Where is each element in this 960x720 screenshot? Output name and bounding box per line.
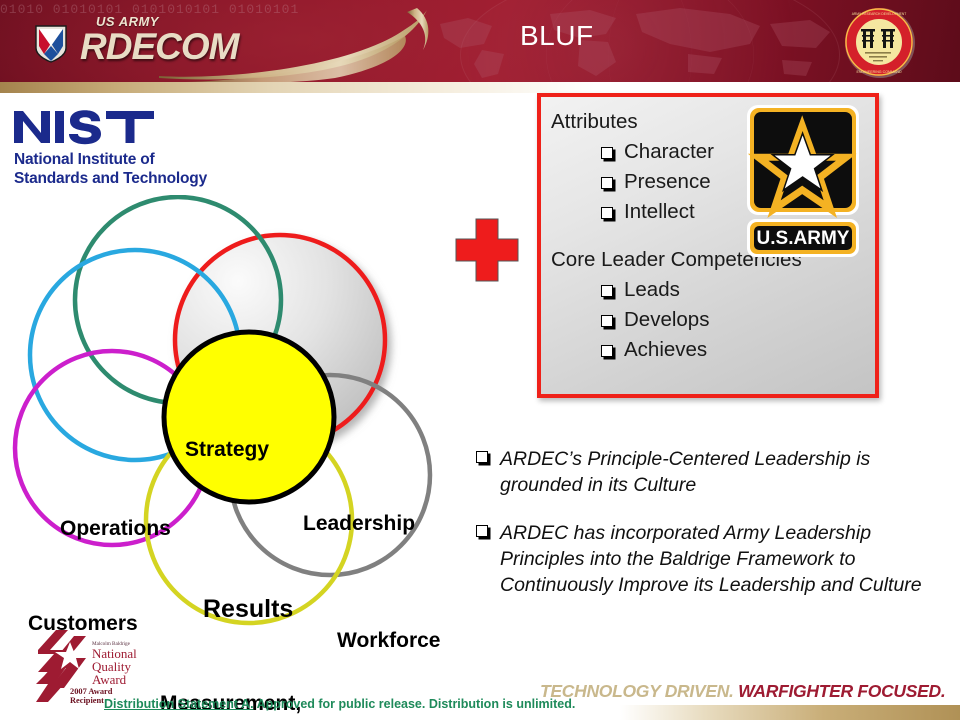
checkbox-icon [601, 177, 613, 189]
venn-label-operations: Operations [60, 517, 171, 541]
venn-label-workforce: Workforce [337, 629, 440, 653]
competency-label: Leads [624, 275, 680, 305]
tagline-part-2: WARFIGHTER FOCUSED. [738, 681, 945, 701]
venn-label-results: Results [203, 595, 293, 624]
venn-circles [0, 195, 480, 635]
page-title: BLUF [520, 20, 594, 52]
attribute-label: Presence [624, 167, 711, 197]
baldrige-recipient-line-1: 2007 Award [70, 687, 113, 696]
footer-gold-bar [620, 705, 960, 720]
competency-label: Develops [624, 305, 709, 335]
bullet-text: ARDEC has incorporated Army Leadership P… [500, 520, 952, 598]
bullet-item: ARDEC’s Principle-Centered Leadership is… [476, 446, 952, 498]
rdecom-shield-icon [34, 24, 68, 64]
attribute-label: Character [624, 137, 714, 167]
header-gold-divider [0, 82, 960, 93]
attribute-label: Intellect [624, 197, 695, 227]
rdecom-wordmark: US ARMY RDECOM [80, 14, 290, 70]
checkbox-icon [476, 451, 488, 463]
army-logo-caption: U.S.ARMY [757, 228, 850, 249]
red-plus-icon [452, 215, 522, 285]
distribution-statement-text: Approved for public release. Distributio… [257, 697, 576, 711]
competency-item-develops: Develops [601, 305, 875, 335]
competency-item-achieves: Achieves [601, 335, 875, 365]
slide-header: 01010 01010101 0101010101 0101010101010 … [0, 0, 960, 82]
rdecom-tagline: TECHNOLOGY DRIVEN. WARFIGHTER FOCUSED. [540, 681, 945, 702]
distribution-statement-label: Distribution Statement A. [104, 697, 254, 711]
nist-name-block: National Institute of Standards and Tech… [14, 150, 254, 188]
venn-label-leadership: Leadership [303, 512, 415, 536]
svg-text:ENGINEERING COMMAND: ENGINEERING COMMAND [856, 70, 902, 74]
checkbox-icon [601, 345, 613, 357]
attributes-competencies-box: Attributes Character Presence Intellect … [537, 93, 879, 398]
nist-wordmark-icon [14, 108, 162, 146]
malcolm-baldrige-award-logo: Malcolm Baldrige National Quality Award … [34, 628, 156, 706]
checkbox-icon [601, 315, 613, 327]
bullet-item: ARDEC has incorporated Army Leadership P… [476, 520, 952, 598]
nist-logo: National Institute of Standards and Tech… [14, 108, 254, 196]
world-map-decoration [430, 4, 850, 82]
us-army-star-logo: U.S.ARMY [745, 105, 861, 257]
nist-line-2: Standards and Technology [14, 169, 254, 188]
checkbox-icon [601, 207, 613, 219]
venn-label-strategy: Strategy [185, 438, 269, 462]
checkbox-icon [601, 147, 613, 159]
bullet-text: ARDEC’s Principle-Centered Leadership is… [500, 446, 952, 498]
slide-canvas: 01010 01010101 0101010101 0101010101010 … [0, 0, 960, 720]
bullet-list: ARDEC’s Principle-Centered Leadership is… [476, 446, 952, 620]
baldrige-venn-diagram: Strategy Operations Customers Leadership… [0, 195, 480, 635]
competency-item-leads: Leads [601, 275, 875, 305]
competency-label: Achieves [624, 335, 707, 365]
baldrige-line-3: Award [92, 672, 127, 687]
rdecom-text: RDECOM [80, 27, 238, 67]
ardec-seal-icon: ARMY RESEARCH DEVELOPMENT ENGINEERING CO… [843, 6, 917, 80]
nist-line-1: National Institute of [14, 150, 254, 169]
baldrige-recipient-line-2: Recipient [70, 696, 104, 705]
checkbox-icon [476, 525, 488, 537]
distribution-statement: Distribution Statement A. Approved for p… [104, 697, 575, 711]
svg-text:ARMY RESEARCH DEVELOPMENT: ARMY RESEARCH DEVELOPMENT [852, 12, 907, 16]
checkbox-icon [601, 285, 613, 297]
